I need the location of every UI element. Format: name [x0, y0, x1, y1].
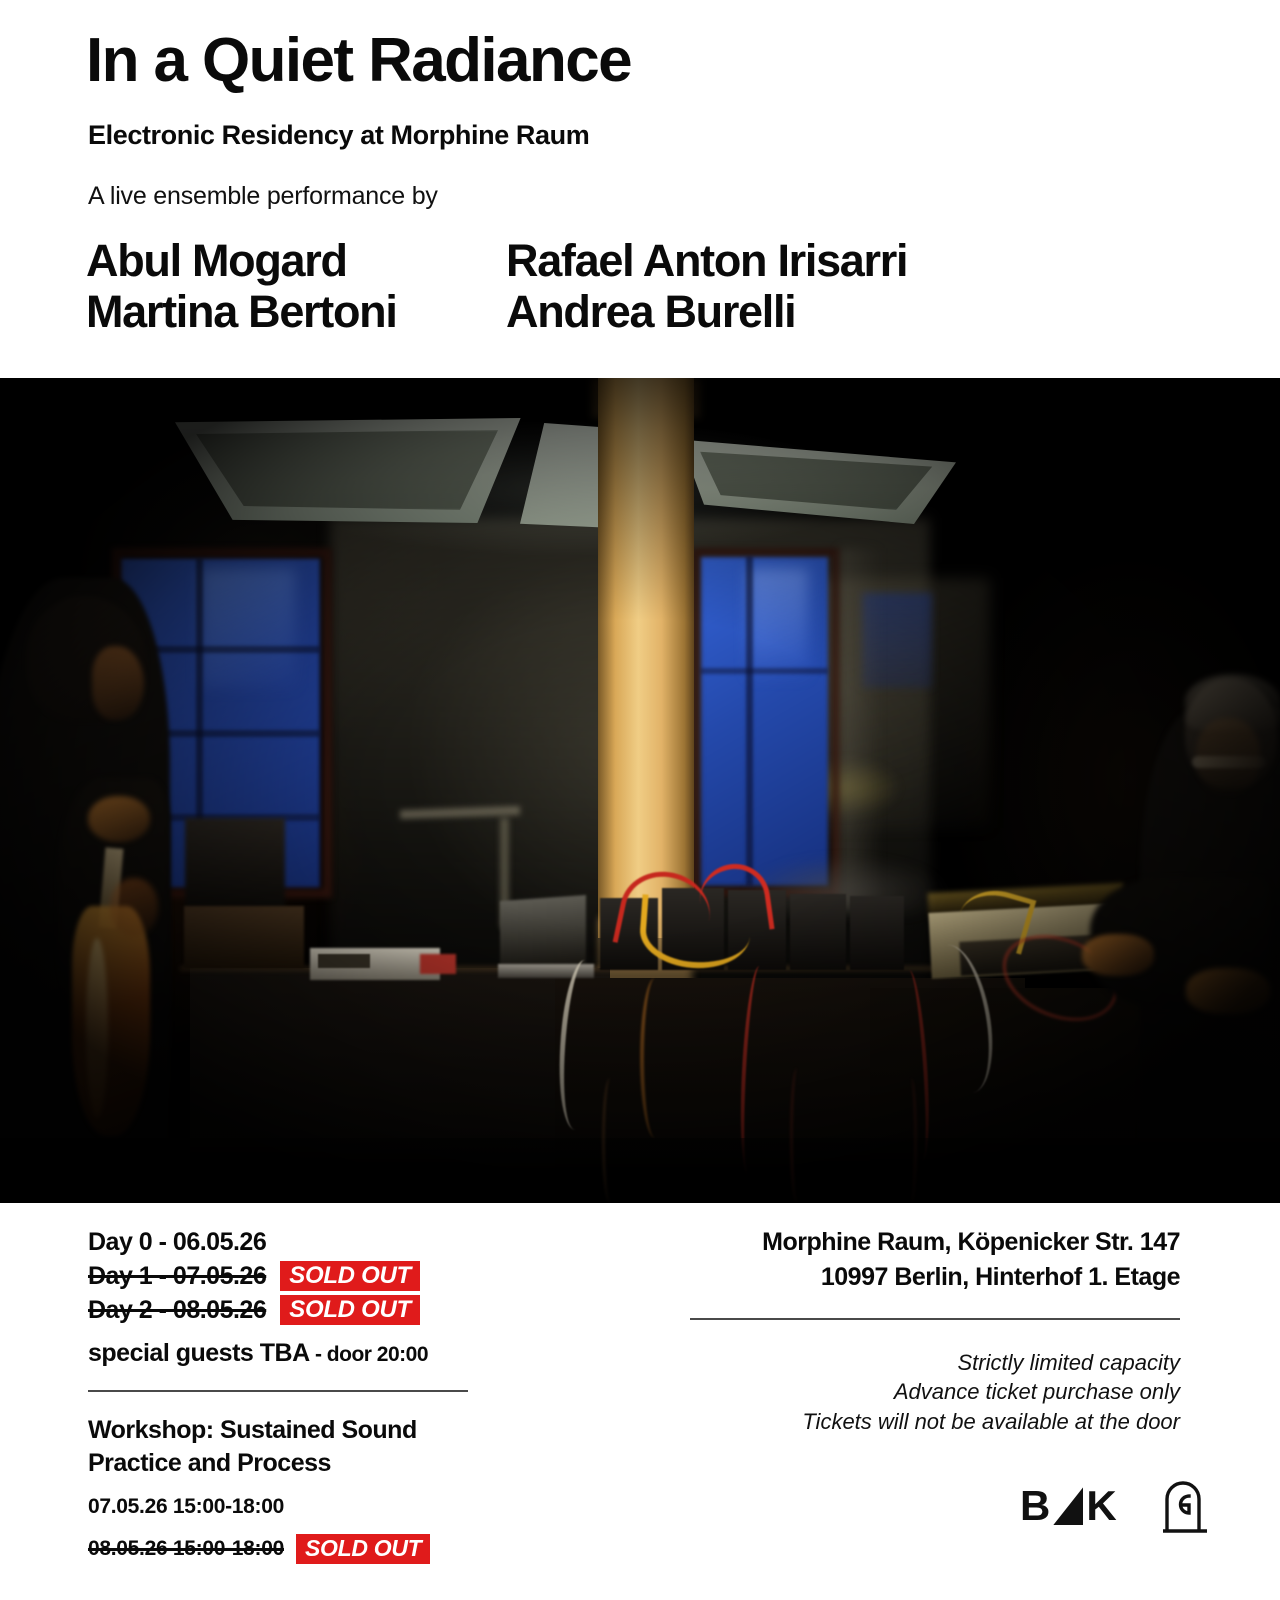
date-label: Day 1 - 07.05.26: [88, 1262, 266, 1291]
event-poster: In a Quiet Radiance Electronic Residency…: [0, 0, 1280, 1600]
bak-logo-letter-b: B: [1020, 1485, 1050, 1527]
performance-photo: [0, 378, 1280, 1203]
artist-list: Abul Mogard Rafael Anton Irisarri Martin…: [86, 238, 1186, 340]
venue-address: Morphine Raum, Köpenicker Str. 147 10997…: [660, 1225, 1180, 1294]
notice-line-3: Tickets will not be available at the doo…: [660, 1407, 1180, 1436]
notice-line-1: Strictly limited capacity: [660, 1348, 1180, 1377]
date-label: Day 2 - 08.05.26: [88, 1296, 266, 1325]
special-guests-label: special guests TBA: [88, 1339, 310, 1367]
status-badge-sold-out: SOLD OUT: [280, 1261, 420, 1292]
date-row-day-2: Day 2 - 08.05.26 SOLD OUT: [88, 1293, 488, 1327]
divider-right: [690, 1318, 1180, 1320]
status-badge-sold-out: SOLD OUT: [280, 1295, 420, 1326]
photo-vignette: [0, 378, 1280, 1203]
artist-row: Abul Mogard Rafael Anton Irisarri: [86, 238, 1186, 289]
date-row-day-0: Day 0 - 06.05.26: [88, 1225, 488, 1259]
workshop-session-row-2: 08.05.26 15:00-18:00 SOLD OUT: [88, 1534, 488, 1564]
bak-logo-letter-k: K: [1086, 1485, 1116, 1527]
date-row-day-1: Day 1 - 07.05.26 SOLD OUT: [88, 1259, 488, 1293]
artist-name-andrea-burelli: Andrea Burelli: [506, 289, 795, 334]
poster-footer: Day 0 - 06.05.26 Day 1 - 07.05.26 SOLD O…: [0, 1203, 1280, 1600]
morphine-arch-logo-icon: [1163, 1479, 1211, 1533]
notice-line-2: Advance ticket purchase only: [660, 1377, 1180, 1406]
artist-name-rafael-anton-irisarri: Rafael Anton Irisarri: [506, 238, 907, 283]
ticket-notice: Strictly limited capacity Advance ticket…: [660, 1348, 1180, 1436]
workshop-title: Workshop: Sustained Sound Practice and P…: [88, 1414, 488, 1480]
venue-line-2: 10997 Berlin, Hinterhof 1. Etage: [660, 1260, 1180, 1295]
page-subtitle: Electronic Residency at Morphine Raum: [88, 120, 589, 151]
workshop-session-label: 07.05.26 15:00-18:00: [88, 1495, 284, 1519]
artist-name-abul-mogard: Abul Mogard: [86, 238, 506, 283]
special-guests-line: special guests TBA - door 20:00: [88, 1339, 488, 1368]
artist-row: Martina Bertoni Andrea Burelli: [86, 289, 1186, 340]
logo-row: B K: [1020, 1479, 1211, 1533]
bak-logo: B K: [1020, 1485, 1117, 1527]
door-time-label: - door 20:00: [310, 1343, 428, 1366]
venue-line-1: Morphine Raum, Köpenicker Str. 147: [660, 1225, 1180, 1260]
workshop-title-line-1: Workshop: Sustained Sound: [88, 1414, 488, 1447]
poster-header: In a Quiet Radiance Electronic Residency…: [0, 0, 1280, 378]
status-badge-sold-out: SOLD OUT: [296, 1534, 430, 1564]
artist-name-martina-bertoni: Martina Bertoni: [86, 289, 506, 334]
divider-left: [88, 1390, 468, 1392]
triangle-icon: [1053, 1487, 1083, 1525]
workshop-title-line-2: Practice and Process: [88, 1447, 488, 1480]
workshop-session-row-1: 07.05.26 15:00-18:00: [88, 1492, 488, 1522]
venue-column: Morphine Raum, Köpenicker Str. 147 10997…: [660, 1225, 1180, 1436]
date-label: Day 0 - 06.05.26: [88, 1228, 266, 1257]
byline-text: A live ensemble performance by: [88, 182, 438, 211]
workshop-session-label: 08.05.26 15:00-18:00: [88, 1537, 284, 1561]
page-title: In a Quiet Radiance: [86, 30, 631, 92]
dates-column: Day 0 - 06.05.26 Day 1 - 07.05.26 SOLD O…: [88, 1225, 488, 1564]
